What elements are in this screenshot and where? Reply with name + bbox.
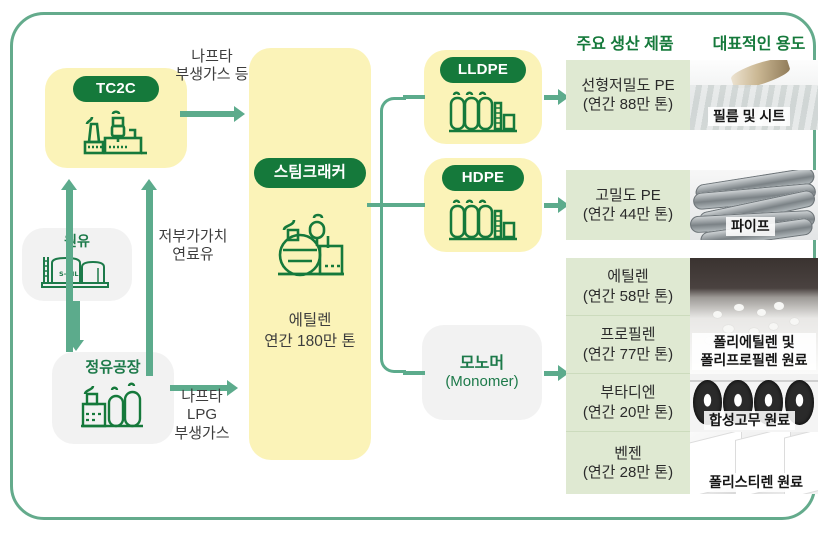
product-butadiene: 부타디엔 (연간 20만 톤): [566, 374, 690, 432]
arrow-tc2c-to-cracker-head: [234, 106, 245, 122]
use-photo-polystyrene: 폴리스티렌 원료: [690, 432, 818, 494]
product-hdpe-capacity: (연간 44만 톤): [583, 205, 673, 224]
product-lldpe-capacity: (연간 88만 톤): [583, 95, 673, 114]
arrow-fueloil-to-tc2c-line: [146, 190, 153, 376]
tc2c-label: TC2C: [73, 76, 159, 102]
steam-cracker-label: 스팀크래커: [254, 158, 366, 188]
monomer-label-en: (Monomer): [445, 373, 518, 390]
product-propylene: 프로필렌 (연간 77만 톤): [566, 316, 690, 374]
use-caption-polystyrene: 폴리스티렌 원료: [704, 473, 808, 493]
hdpe-label: HDPE: [442, 165, 524, 191]
node-lldpe[interactable]: LLDPE: [424, 50, 542, 144]
branch-bracket: [380, 97, 406, 373]
use-caption-film: 필름 및 시트: [708, 107, 790, 127]
product-propylene-name: 프로필렌: [600, 325, 655, 344]
product-butadiene-name: 부타디엔: [600, 383, 655, 402]
oil-storage-tank-icon: S-OIL: [38, 251, 116, 296]
product-benzene-capacity: (연간 28만 톤): [583, 463, 673, 482]
use-photo-film: 필름 및 시트: [690, 60, 818, 130]
lldpe-label: LLDPE: [440, 57, 526, 83]
product-benzene: 벤젠 (연간 28만 톤): [566, 432, 690, 494]
flow-label-low-value-fuel-oil: 저부가가치 연료유: [140, 228, 246, 265]
refinery-towers-icon: [73, 380, 153, 437]
arrow-refinery-to-tc2c-line: [66, 190, 73, 352]
product-hdpe-name: 고밀도 PE: [595, 186, 661, 205]
arrow-tc2c-to-cracker-line: [180, 111, 236, 117]
node-monomer[interactable]: 모노머 (Monomer): [422, 325, 542, 420]
branch-to-hdpe: [403, 203, 425, 207]
product-hdpe: 고밀도 PE (연간 44만 톤): [566, 170, 690, 240]
use-photo-rubber: 합성고무 원료: [690, 374, 818, 432]
node-steam-cracker[interactable]: 스팀크래커 에틸렌 연간 180만 톤: [249, 48, 371, 460]
use-caption-pipe: 파이프: [726, 217, 775, 237]
flow-label-naphtha-byproduct: 나프타 부생가스 등: [160, 48, 264, 85]
branch-to-lldpe: [403, 95, 425, 99]
use-caption-polyolefin: 폴리에틸렌 및 폴리프로필렌 원료: [692, 333, 816, 370]
product-ethylene-name: 에틸렌: [607, 267, 648, 286]
node-crude-oil[interactable]: 원유 S-OIL: [22, 228, 132, 301]
use-photo-polyolefin: 폴리에틸렌 및 폴리프로필렌 원료: [690, 258, 818, 374]
petrochemical-flow-diagram: TC2C 원유: [0, 0, 835, 534]
monomer-label-ko: 모노머: [460, 355, 504, 373]
arrow-fueloil-to-tc2c-head: [141, 179, 157, 190]
product-ethylene: 에틸렌 (연간 58만 톤): [566, 258, 690, 316]
refinery-plant-icon: [79, 108, 153, 161]
arrow-crude-to-refinery-line: [73, 301, 80, 341]
node-hdpe[interactable]: HDPE: [424, 158, 542, 252]
header-products: 주요 생산 제품: [566, 30, 684, 54]
product-lldpe-name: 선형저밀도 PE: [581, 76, 674, 95]
flow-label-naphtha-lpg: 나프타 LPG 부생가스: [154, 388, 250, 443]
arrow-refinery-to-tc2c-head: [61, 179, 77, 190]
product-butadiene-capacity: (연간 20만 톤): [583, 403, 673, 422]
header-uses: 대표적인 용도: [700, 30, 818, 54]
refinery-label: 정유공장: [85, 359, 140, 376]
product-propylene-capacity: (연간 77만 톤): [583, 345, 673, 364]
use-caption-rubber: 합성고무 원료: [704, 411, 795, 431]
cracker-output-capacity: 연간 180만 톤: [264, 332, 356, 353]
cracker-output-name: 에틸렌: [264, 311, 356, 332]
product-lldpe: 선형저밀도 PE (연간 88만 톤): [566, 60, 690, 130]
product-ethylene-capacity: (연간 58만 톤): [583, 287, 673, 306]
use-photo-pipe: 파이프: [690, 170, 818, 240]
product-benzene-name: 벤젠: [614, 444, 642, 463]
steam-cracker-icon: [270, 210, 350, 285]
pe-tanks-icon: [444, 197, 522, 246]
pe-tanks-icon: [444, 89, 522, 138]
branch-to-monomer: [403, 371, 425, 375]
